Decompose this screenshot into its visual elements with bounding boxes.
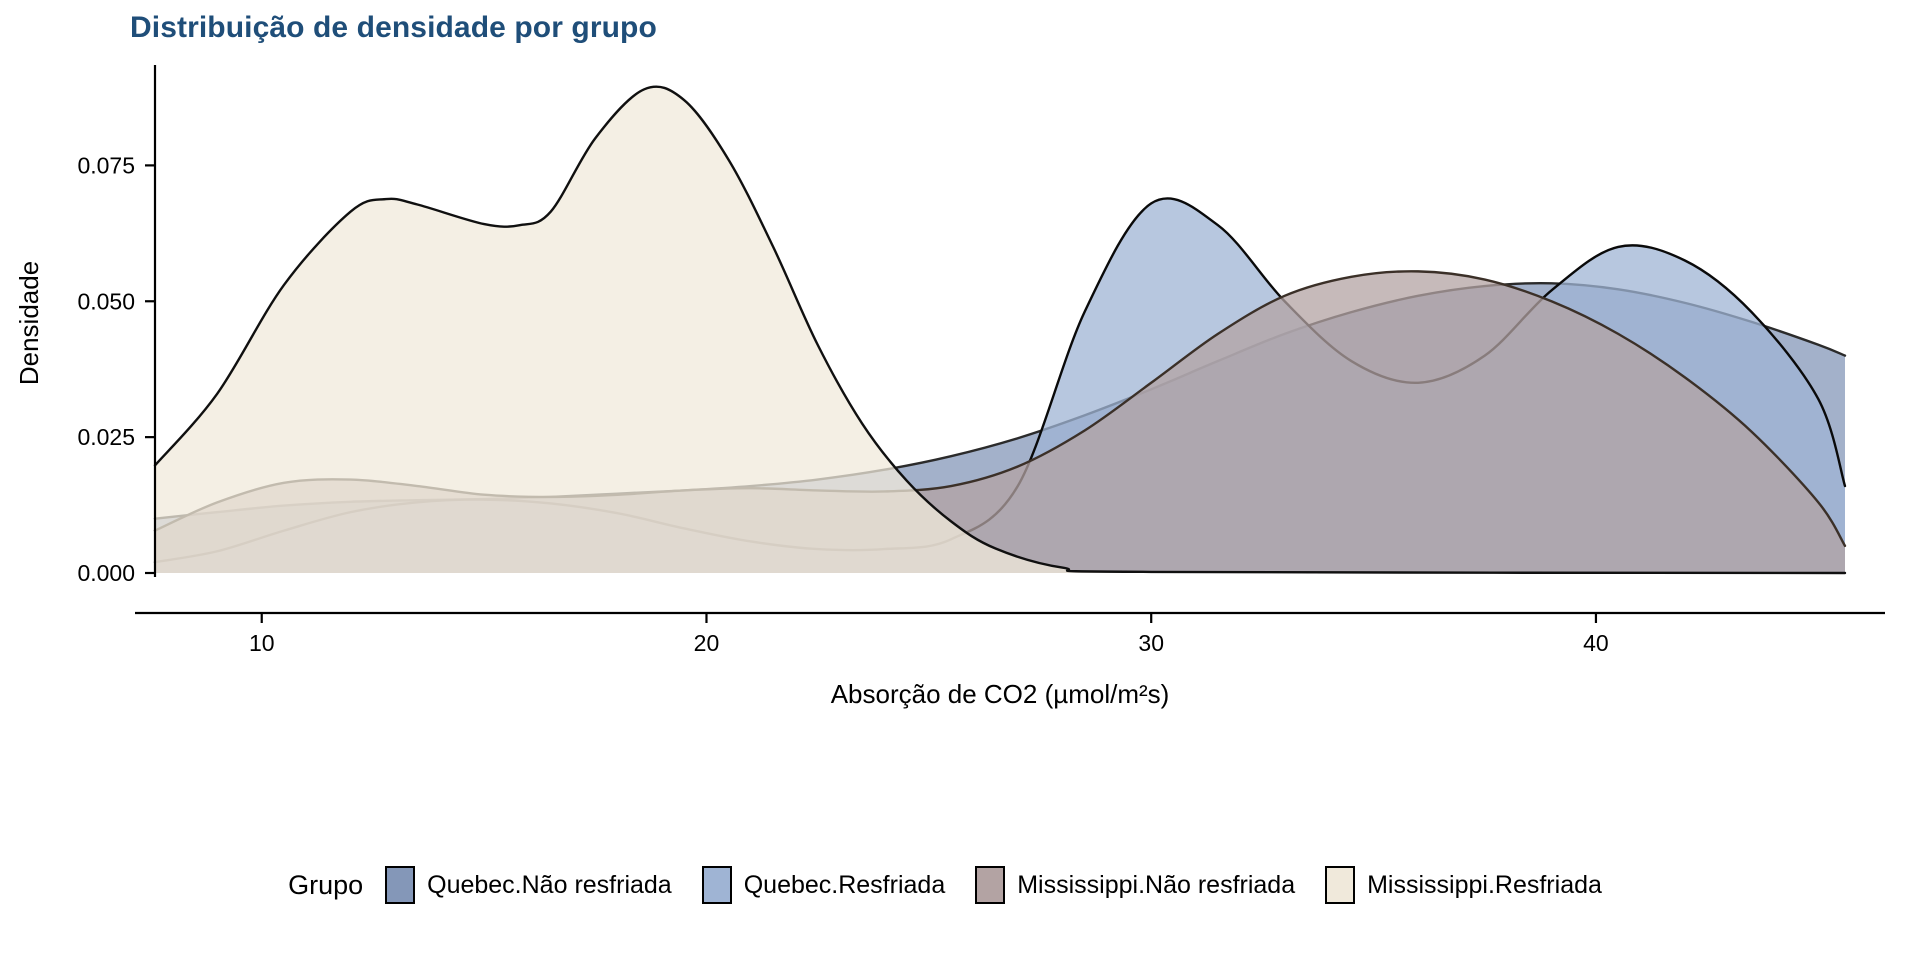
legend-title: Grupo bbox=[288, 870, 363, 901]
x-tick-label: 10 bbox=[249, 630, 275, 656]
legend-item[interactable]: Mississippi.Não resfriada bbox=[975, 866, 1295, 904]
chart-page: Distribuição de densidade por grupo 0.00… bbox=[0, 0, 1920, 960]
legend-swatch bbox=[385, 866, 415, 904]
legend: Grupo Quebec.Não resfriadaQuebec.Resfria… bbox=[0, 866, 1920, 904]
x-tick-label: 20 bbox=[694, 630, 720, 656]
x-tick-label: 30 bbox=[1138, 630, 1164, 656]
legend-swatch bbox=[1325, 866, 1355, 904]
plot-container: 0.0000.0250.0500.07510203040Absorção de … bbox=[0, 0, 1920, 860]
y-tick-label: 0.025 bbox=[77, 424, 135, 450]
legend-swatch bbox=[975, 866, 1005, 904]
x-axis-title: Absorção de CO2 (µmol/m²s) bbox=[831, 679, 1170, 709]
legend-label: Quebec.Resfriada bbox=[744, 871, 946, 900]
y-tick-label: 0.000 bbox=[77, 560, 135, 586]
y-axis-title: Densidade bbox=[14, 261, 44, 385]
legend-label: Quebec.Não resfriada bbox=[427, 871, 672, 900]
legend-swatch bbox=[702, 866, 732, 904]
legend-item[interactable]: Quebec.Resfriada bbox=[702, 866, 946, 904]
x-tick-label: 40 bbox=[1583, 630, 1609, 656]
y-tick-label: 0.075 bbox=[77, 152, 135, 178]
legend-label: Mississippi.Não resfriada bbox=[1017, 871, 1295, 900]
density-plot-svg: 0.0000.0250.0500.07510203040Absorção de … bbox=[0, 0, 1920, 860]
legend-items: Quebec.Não resfriadaQuebec.ResfriadaMiss… bbox=[385, 866, 1632, 904]
density-series-layer bbox=[155, 87, 1845, 573]
legend-item[interactable]: Quebec.Não resfriada bbox=[385, 866, 672, 904]
legend-item[interactable]: Mississippi.Resfriada bbox=[1325, 866, 1602, 904]
y-tick-label: 0.050 bbox=[77, 288, 135, 314]
legend-label: Mississippi.Resfriada bbox=[1367, 871, 1602, 900]
